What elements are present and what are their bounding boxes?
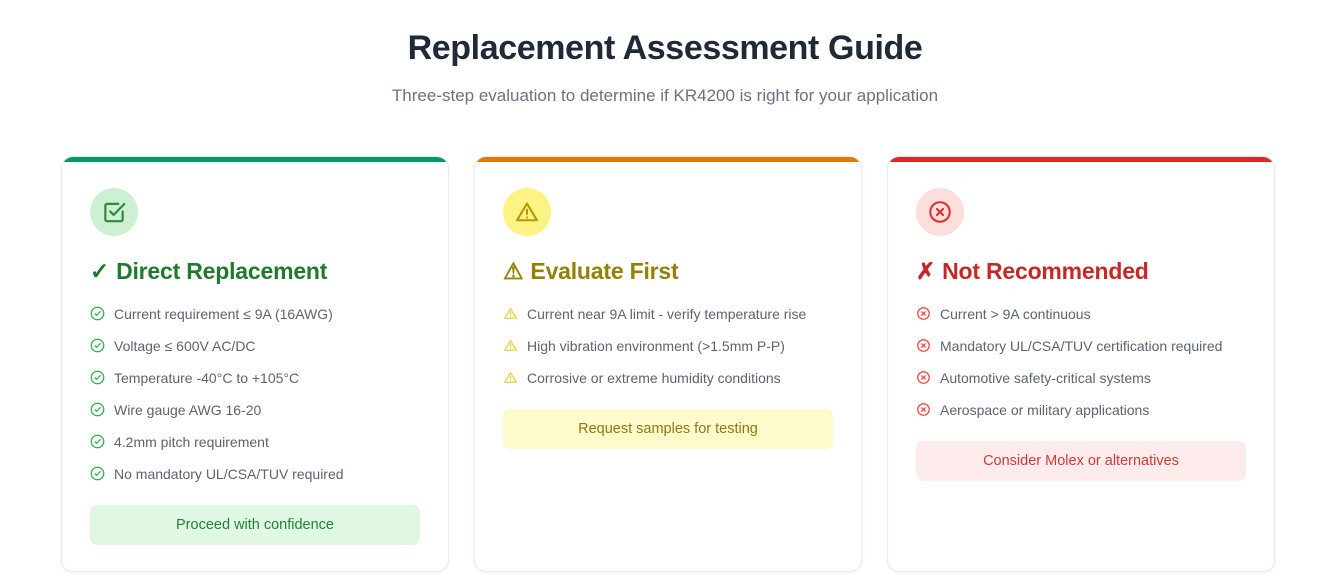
warning-triangle-icon [503,338,518,353]
page-header: Replacement Assessment Guide Three-step … [0,0,1330,108]
list-item-label: Voltage ≤ 600V AC/DC [114,337,256,355]
list-item-label: Wire gauge AWG 16-20 [114,401,261,419]
criteria-list: Current requirement ≤ 9A (16AWG) Voltage… [90,305,420,483]
list-item: No mandatory UL/CSA/TUV required [90,465,420,483]
cross-glyph-icon: ✗ [916,256,935,286]
warning-triangle-icon [503,370,518,385]
criteria-list: Current near 9A limit - verify temperatu… [503,305,833,387]
card-heading: ✓ Direct Replacement [90,256,420,286]
assessment-card-direct-replacement[interactable]: ✓ Direct Replacement Current requirement… [61,156,449,572]
circle-check-icon [90,338,105,353]
card-heading-text: Not Recommended [942,256,1149,286]
card-heading: ✗ Not Recommended [916,256,1246,286]
list-item: Mandatory UL/CSA/TUV certification requi… [916,337,1246,355]
warning-triangle-icon [503,188,551,236]
list-item-label: Aerospace or military applications [940,401,1149,419]
circle-check-icon [90,466,105,481]
checkbox-check-icon [90,188,138,236]
list-item: Temperature -40°C to +105°C [90,369,420,387]
list-item: Current near 9A limit - verify temperatu… [503,305,833,323]
list-item: Wire gauge AWG 16-20 [90,401,420,419]
list-item: Automotive safety-critical systems [916,369,1246,387]
check-glyph-icon: ✓ [90,256,109,286]
list-item-label: Corrosive or extreme humidity conditions [527,369,781,387]
list-item: Voltage ≤ 600V AC/DC [90,337,420,355]
assessment-guide-page: Replacement Assessment Guide Three-step … [0,0,1330,584]
card-heading-text: Direct Replacement [116,256,327,286]
list-item: Corrosive or extreme humidity conditions [503,369,833,387]
page-subtitle: Three-step evaluation to determine if KR… [0,84,1330,108]
list-item-label: Automotive safety-critical systems [940,369,1151,387]
card-heading-text: Evaluate First [530,256,678,286]
warning-triangle-icon [503,306,518,321]
card-accent-bar [475,157,861,162]
list-item-label: 4.2mm pitch requirement [114,433,269,451]
status-badge[interactable]: Consider Molex or alternatives [916,441,1246,481]
list-item: Current requirement ≤ 9A (16AWG) [90,305,420,323]
card-heading: ⚠ Evaluate First [503,256,833,286]
circle-x-icon [916,402,931,417]
card-accent-bar [62,157,448,162]
criteria-list: Current > 9A continuous Mandatory UL/CSA… [916,305,1246,419]
list-item-label: Mandatory UL/CSA/TUV certification requi… [940,337,1222,355]
list-item: 4.2mm pitch requirement [90,433,420,451]
list-item-label: Temperature -40°C to +105°C [114,369,299,387]
circle-x-icon [916,188,964,236]
circle-check-icon [90,402,105,417]
circle-x-icon [916,338,931,353]
card-accent-bar [888,157,1274,162]
circle-check-icon [90,370,105,385]
list-item-label: High vibration environment (>1.5mm P-P) [527,337,785,355]
list-item-label: Current near 9A limit - verify temperatu… [527,305,806,323]
circle-x-icon [916,370,931,385]
status-badge[interactable]: Request samples for testing [503,409,833,449]
list-item-label: Current > 9A continuous [940,305,1091,323]
circle-check-icon [90,306,105,321]
circle-check-icon [90,434,105,449]
assessment-card-not-recommended[interactable]: ✗ Not Recommended Current > 9A continuou… [887,156,1275,572]
page-title: Replacement Assessment Guide [0,26,1330,70]
list-item-label: No mandatory UL/CSA/TUV required [114,465,344,483]
list-item: High vibration environment (>1.5mm P-P) [503,337,833,355]
list-item: Aerospace or military applications [916,401,1246,419]
assessment-card-evaluate-first[interactable]: ⚠ Evaluate First Current near 9A limit -… [474,156,862,572]
assessment-cards: ✓ Direct Replacement Current requirement… [61,156,1275,572]
warning-glyph-icon: ⚠ [503,256,523,286]
list-item: Current > 9A continuous [916,305,1246,323]
status-badge[interactable]: Proceed with confidence [90,505,420,545]
list-item-label: Current requirement ≤ 9A (16AWG) [114,305,333,323]
circle-x-icon [916,306,931,321]
